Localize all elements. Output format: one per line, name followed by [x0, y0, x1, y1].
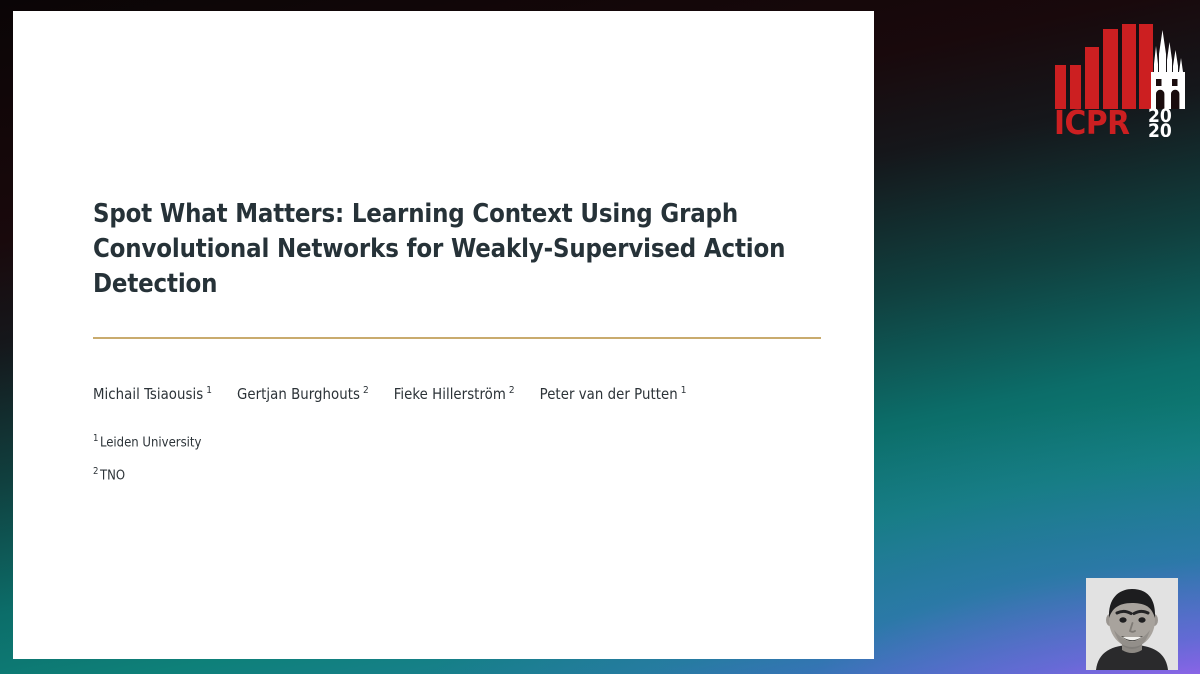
- affiliation-entry: 2TNO: [93, 466, 125, 483]
- author-name: Michail Tsiaousis: [93, 386, 203, 403]
- presenter-portrait-icon: [1086, 578, 1178, 670]
- author-entry: Gertjan Burghouts2: [237, 386, 369, 403]
- author-affiliation-mark: 2: [363, 385, 369, 396]
- logo-bars-icon: [1055, 24, 1153, 109]
- presenter-webcam-thumbnail[interactable]: [1086, 578, 1178, 670]
- logo-wordmark: ICPR: [1054, 103, 1130, 137]
- author-name: Peter van der Putten: [540, 386, 678, 403]
- slide-content-area: Spot What Matters: Learning Context Usin…: [80, 11, 834, 659]
- slide-canvas: Spot What Matters: Learning Context Usin…: [13, 11, 874, 659]
- author-list: Michail Tsiaousis1Gertjan Burghouts2Fiek…: [93, 385, 687, 403]
- author-entry: Peter van der Putten1: [540, 386, 687, 403]
- author-affiliation-mark: 1: [681, 385, 687, 396]
- cathedral-silhouette-icon: [1151, 30, 1185, 109]
- logo-year-bottom: 20: [1148, 120, 1172, 137]
- affiliation-mark: 1: [93, 433, 98, 444]
- author-affiliation-mark: 1: [206, 385, 212, 396]
- affiliation-name: Leiden University: [100, 435, 201, 450]
- icpr-logo: ICPR 20 20: [1053, 24, 1191, 137]
- author-entry: Michail Tsiaousis1: [93, 386, 212, 403]
- author-name: Fieke Hillerström: [394, 386, 506, 403]
- author-affiliation-mark: 2: [509, 385, 515, 396]
- author-entry: Fieke Hillerström2: [394, 386, 515, 403]
- affiliation-entry: 1Leiden University: [93, 433, 201, 450]
- affiliation-name: TNO: [100, 468, 125, 483]
- page-title: Spot What Matters: Learning Context Usin…: [93, 197, 793, 302]
- title-divider-rule: [93, 337, 821, 339]
- presentation-viewport: Spot What Matters: Learning Context Usin…: [0, 0, 1200, 674]
- affiliation-mark: 2: [93, 466, 98, 477]
- author-name: Gertjan Burghouts: [237, 386, 360, 403]
